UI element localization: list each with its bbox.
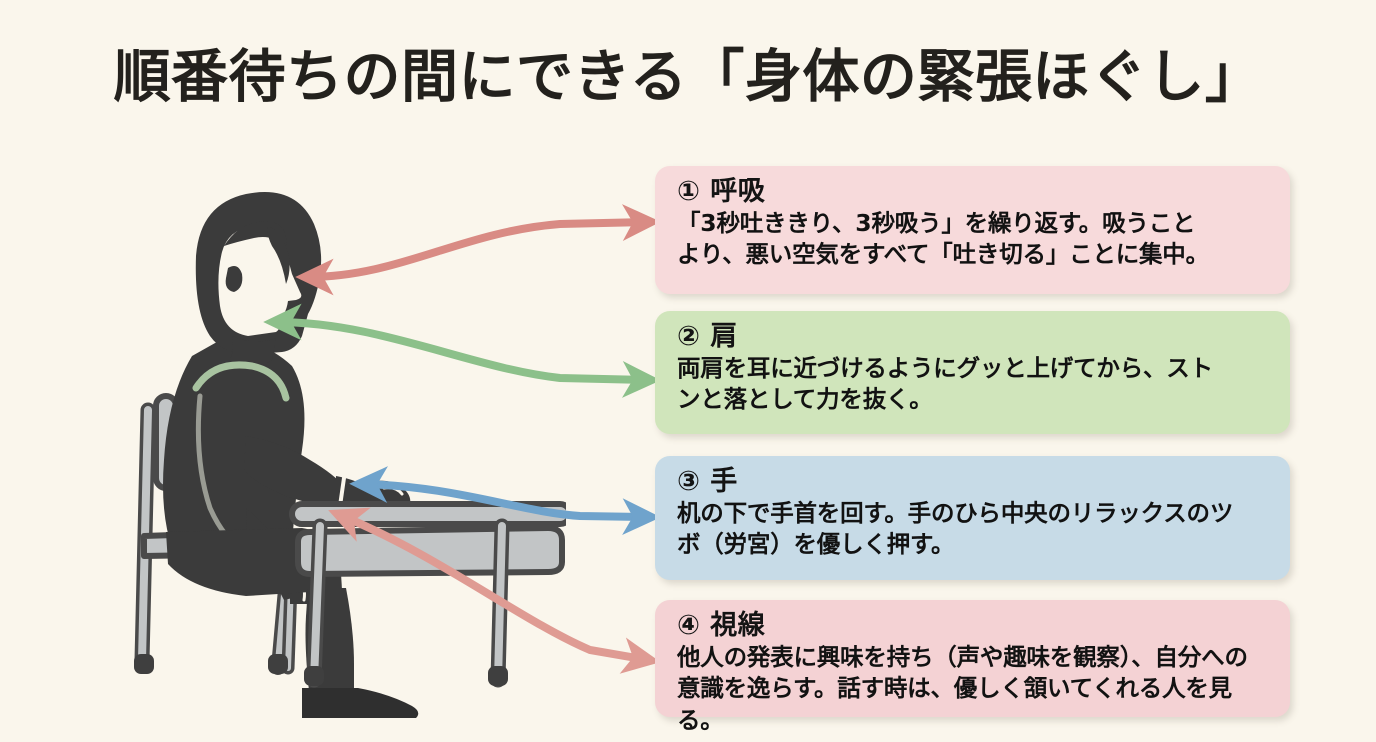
- card-body-line: 他人の発表に興味を持ち（声や趣味を観察）、自分への: [677, 642, 1272, 673]
- card-heading: ① 呼吸: [677, 177, 1272, 207]
- card-body-line: 両肩を耳に近づけるようにグッと上げてから、スト: [677, 353, 1272, 384]
- card-body-line: ンと落として力を抜く。: [677, 384, 1272, 415]
- card-heading: ④ 視線: [677, 611, 1272, 641]
- card-heading: ② 肩: [677, 322, 1272, 352]
- seated-student-illustration: [96, 160, 566, 720]
- tip-card-breathing[interactable]: ① 呼吸 「3秒吐ききり、3秒吸う」を繰り返す。吸うこと より、悪い空気をすべて…: [655, 166, 1290, 294]
- card-body-line: より、悪い空気をすべて「吐き切る」ことに集中。: [677, 239, 1272, 270]
- infographic-poster: 順番待ちの間にできる「身体の緊張ほぐし」: [0, 0, 1376, 742]
- card-body-line: 「3秒吐ききり、3秒吸う」を繰り返す。吸うこと: [677, 208, 1272, 239]
- card-body-line: 意識を逸らす。話す時は、優しく頷いてくれる人を見る。: [677, 673, 1272, 736]
- card-body-line: 机の下で手首を回す。手のひら中央のリラックスのツ: [677, 498, 1272, 529]
- tip-card-hand[interactable]: ③ 手 机の下で手首を回す。手のひら中央のリラックスのツ ボ（労宮）を優しく押す…: [655, 456, 1290, 580]
- card-heading: ③ 手: [677, 467, 1272, 497]
- card-body-line: ボ（労宮）を優しく押す。: [677, 529, 1272, 560]
- tip-card-shoulder[interactable]: ② 肩 両肩を耳に近づけるようにグッと上げてから、スト ンと落として力を抜く。: [655, 311, 1290, 434]
- tip-card-gaze[interactable]: ④ 視線 他人の発表に興味を持ち（声や趣味を観察）、自分への 意識を逸らす。話す…: [655, 600, 1290, 717]
- page-title: 順番待ちの間にできる「身体の緊張ほぐし」: [0, 48, 1376, 108]
